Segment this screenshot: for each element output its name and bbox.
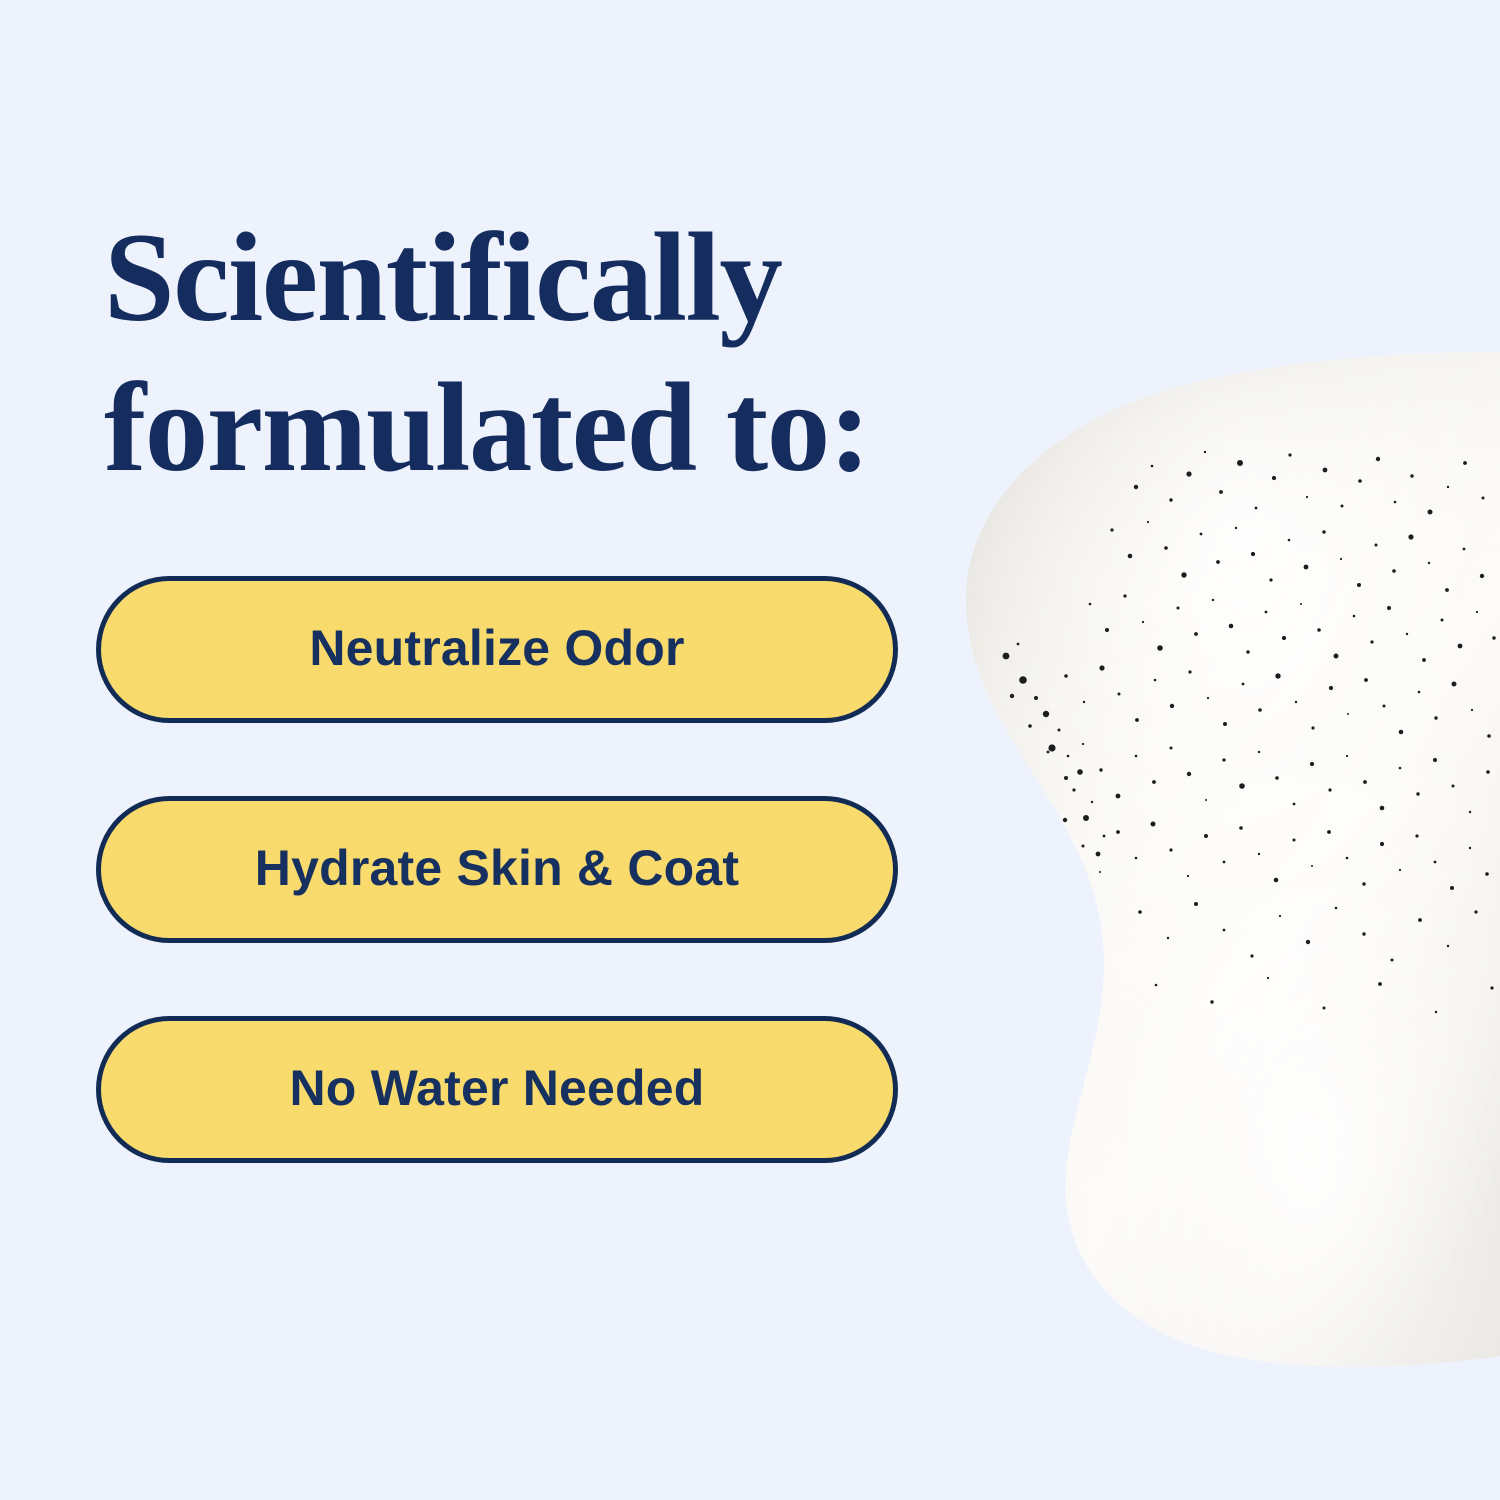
benefit-pill-hydrate-skin-coat[interactable]: Hydrate Skin & Coat [96, 796, 898, 943]
benefit-pill-neutralize-odor[interactable]: Neutralize Odor [96, 576, 898, 723]
benefit-pill-label: Hydrate Skin & Coat [255, 843, 739, 896]
product-feature-graphic: Scientifically formulated to: Neutralize… [0, 0, 1500, 1500]
benefit-pill-list: Neutralize Odor Hydrate Skin & Coat No W… [96, 576, 898, 1163]
page-title: Scientifically formulated to: [104, 203, 1004, 503]
benefit-pill-label: No Water Needed [289, 1063, 704, 1116]
benefit-pill-no-water-needed[interactable]: No Water Needed [96, 1016, 898, 1163]
benefit-pill-label: Neutralize Odor [309, 623, 684, 676]
cream-blob-body [940, 330, 1500, 1390]
speckle-cluster [1003, 451, 1496, 1013]
